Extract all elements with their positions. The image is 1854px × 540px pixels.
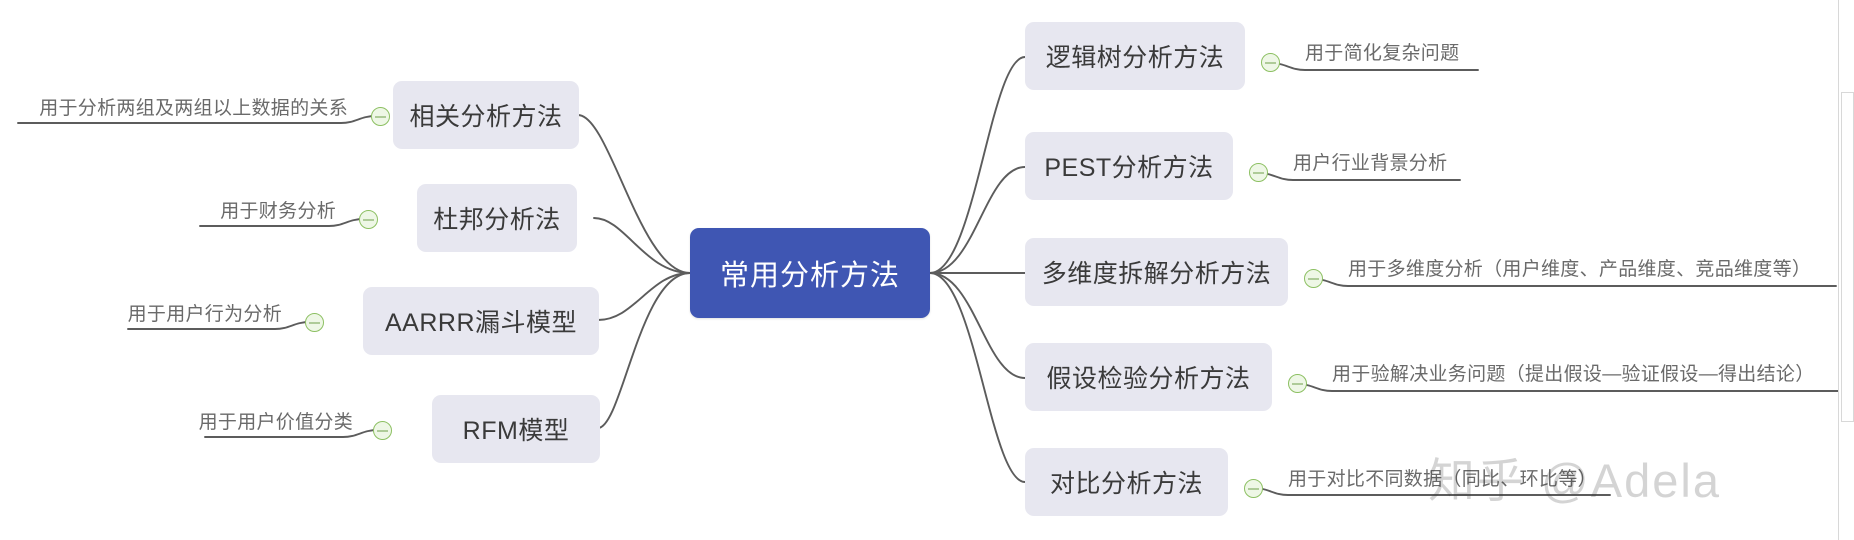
leaf-note-dupont: 用于财务分析	[200, 192, 336, 226]
branch-node-label: 多维度拆解分析方法	[1042, 254, 1272, 290]
frame-side-panel	[1841, 92, 1854, 422]
collapse-toggle-icon[interactable]	[359, 210, 378, 229]
frame-divider-vertical	[1838, 0, 1839, 540]
collapse-toggle-icon[interactable]	[305, 313, 324, 332]
branch-node-label: 对比分析方法	[1050, 464, 1203, 500]
leaf-note-multi-dimension: 用于多维度分析（用户维度、产品维度、竞品维度等）	[1348, 250, 1811, 284]
mindmap-canvas: 常用分析方法 逻辑树分析方法 用于简化复杂问题 PEST分析方法 用户行业背景分…	[0, 0, 1854, 540]
branch-node-label: 假设检验分析方法	[1046, 359, 1250, 395]
branch-node-pest[interactable]: PEST分析方法	[1025, 132, 1233, 200]
branch-node-logic-tree[interactable]: 逻辑树分析方法	[1025, 22, 1245, 90]
branch-node-correlation[interactable]: 相关分析方法	[393, 81, 579, 149]
leaf-note-logic-tree: 用于简化复杂问题	[1305, 34, 1459, 68]
collapse-toggle-icon[interactable]	[1249, 163, 1268, 182]
leaf-note-rfm: 用于用户价值分类	[205, 403, 353, 437]
branch-node-label: 杜邦分析法	[433, 200, 561, 236]
collapse-toggle-icon[interactable]	[1304, 269, 1323, 288]
root-node[interactable]: 常用分析方法	[690, 228, 930, 318]
leaf-note-correlation: 用于分析两组及两组以上数据的关系	[18, 89, 348, 123]
leaf-note-pest: 用户行业背景分析	[1293, 144, 1447, 178]
branch-node-rfm[interactable]: RFM模型	[432, 395, 600, 463]
leaf-note-hypothesis-test: 用于验解决业务问题（提出假设—验证假设—得出结论）	[1332, 355, 1815, 389]
leaf-note-aarrr: 用于用户行为分析	[128, 295, 282, 329]
branch-node-label: PEST分析方法	[1044, 148, 1213, 184]
root-node-label: 常用分析方法	[720, 252, 900, 294]
collapse-toggle-icon[interactable]	[371, 107, 390, 126]
branch-node-multi-dimension[interactable]: 多维度拆解分析方法	[1025, 238, 1288, 306]
branch-node-dupont[interactable]: 杜邦分析法	[417, 184, 577, 252]
collapse-toggle-icon[interactable]	[1244, 479, 1263, 498]
collapse-toggle-icon[interactable]	[373, 421, 392, 440]
branch-node-label: 相关分析方法	[409, 97, 562, 133]
branch-node-aarrr[interactable]: AARRR漏斗模型	[363, 287, 599, 355]
branch-node-comparison[interactable]: 对比分析方法	[1025, 448, 1228, 516]
branch-node-label: AARRR漏斗模型	[385, 303, 577, 339]
branch-node-label: 逻辑树分析方法	[1046, 38, 1225, 74]
watermark: 知乎 @Adela	[1428, 442, 1721, 511]
branch-node-label: RFM模型	[463, 411, 570, 447]
collapse-toggle-icon[interactable]	[1288, 374, 1307, 393]
collapse-toggle-icon[interactable]	[1261, 53, 1280, 72]
branch-node-hypothesis-test[interactable]: 假设检验分析方法	[1025, 343, 1272, 411]
